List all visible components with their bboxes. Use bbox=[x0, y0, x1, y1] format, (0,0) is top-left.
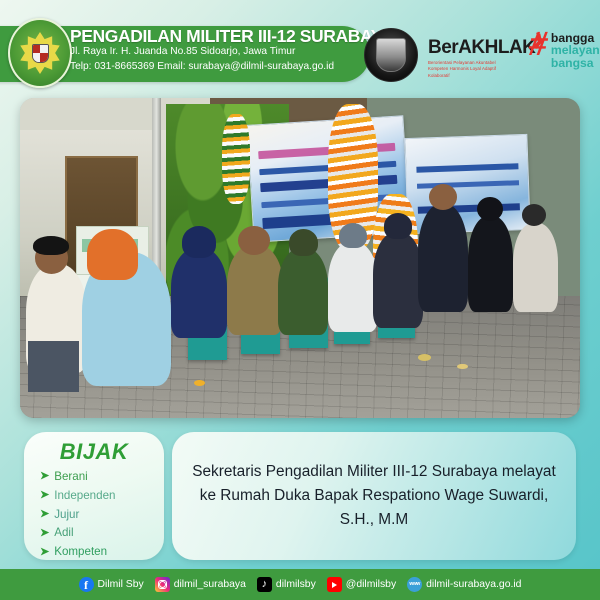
bijak-title: BIJAK bbox=[34, 441, 154, 463]
berakhlak-logo: BerAKHLAK ❱ Berorientasi Pelayanan Akunt… bbox=[428, 38, 535, 79]
chevron-right-icon: ➤ bbox=[40, 525, 49, 543]
emblem-star-shape bbox=[19, 32, 61, 74]
page-title: PENGADILAN MILITER III-12 SURABAYA bbox=[70, 27, 370, 45]
social-youtube[interactable]: @dilmilsby bbox=[327, 577, 396, 592]
header-text-block: PENGADILAN MILITER III-12 SURABAYA Jl. R… bbox=[70, 27, 370, 74]
berakhlak-wordmark: BerAKHLAK ❱ bbox=[428, 38, 535, 57]
bangga-lines: bangga melayani bangsa bbox=[551, 30, 600, 69]
bangga-line-2: melayani bbox=[551, 44, 600, 56]
flower-garland-3 bbox=[222, 114, 250, 204]
bijak-item-label: Kompeten bbox=[54, 543, 107, 562]
social-tiktok[interactable]: ♪ dilmilsby bbox=[257, 577, 316, 592]
footer-social-bar: f Dilmil Sby dilmil_surabaya ♪ dilmilsby… bbox=[0, 569, 600, 600]
chevron-right-icon: ➤ bbox=[40, 544, 49, 562]
photo-content bbox=[20, 98, 580, 418]
bangga-line-3: bangsa bbox=[551, 57, 600, 69]
social-media-poster: PENGADILAN MILITER III-12 SURABAYA Jl. R… bbox=[0, 0, 600, 600]
berakhlak-tagline: Berorientasi Pelayanan Akuntabel Kompete… bbox=[428, 60, 514, 79]
chevron-right-icon: ➤ bbox=[40, 506, 49, 524]
website-icon: www bbox=[407, 577, 422, 592]
youtube-icon bbox=[327, 577, 342, 592]
list-item: ➤ Berani bbox=[40, 468, 154, 487]
bangga-melayani-bangsa-logo: # bangga melayani bangsa bbox=[528, 30, 600, 69]
tiktok-icon: ♪ bbox=[257, 577, 272, 592]
social-facebook[interactable]: f Dilmil Sby bbox=[79, 577, 144, 592]
bijak-item-label: Adil bbox=[54, 524, 73, 543]
list-item: ➤ Kompeten bbox=[40, 543, 154, 562]
caption-text: Sekretaris Pengadilan Militer III-12 Sur… bbox=[192, 460, 556, 532]
social-label: dilmil-surabaya.go.id bbox=[426, 579, 521, 590]
social-label: @dilmilsby bbox=[346, 579, 396, 590]
list-item: ➤ Adil bbox=[40, 524, 154, 543]
chevron-right-icon: ➤ bbox=[40, 468, 49, 486]
org-contact: Telp: 031-8665369 Email: surabaya@dilmil… bbox=[70, 60, 370, 74]
social-website[interactable]: www dilmil-surabaya.go.id bbox=[407, 577, 521, 592]
social-label: dilmil_surabaya bbox=[174, 579, 246, 590]
bijak-values-card: BIJAK ➤ Berani ➤ Independen ➤ Jujur ➤ Ad… bbox=[24, 432, 164, 560]
list-item: ➤ Independen bbox=[40, 487, 154, 506]
bijak-item-label: Independen bbox=[54, 487, 115, 506]
social-label: Dilmil Sby bbox=[98, 579, 144, 590]
court-emblem-icon bbox=[8, 18, 72, 88]
bijak-item-label: Jujur bbox=[54, 506, 79, 525]
mahkamah-agung-seal-icon bbox=[364, 28, 418, 82]
event-photo bbox=[20, 98, 580, 418]
org-address: Jl. Raya Ir. H. Juanda No.85 Sidoarjo, J… bbox=[70, 45, 370, 59]
emblem-shield-shape bbox=[32, 44, 49, 63]
social-label: dilmilsby bbox=[276, 579, 316, 590]
hashtag-icon: # bbox=[525, 30, 550, 69]
bijak-value-list: ➤ Berani ➤ Independen ➤ Jujur ➤ Adil ➤ K… bbox=[34, 468, 154, 562]
social-instagram[interactable]: dilmil_surabaya bbox=[155, 577, 246, 592]
facebook-icon: f bbox=[79, 577, 94, 592]
instagram-icon bbox=[155, 577, 170, 592]
chevron-right-icon: ➤ bbox=[40, 487, 49, 505]
list-item: ➤ Jujur bbox=[40, 506, 154, 525]
berakhlak-wordmark-text: BerAKHLAK bbox=[428, 37, 535, 58]
caption-card: Sekretaris Pengadilan Militer III-12 Sur… bbox=[172, 432, 576, 560]
seal-shield-shape bbox=[376, 38, 406, 72]
bijak-item-label: Berani bbox=[54, 468, 88, 487]
